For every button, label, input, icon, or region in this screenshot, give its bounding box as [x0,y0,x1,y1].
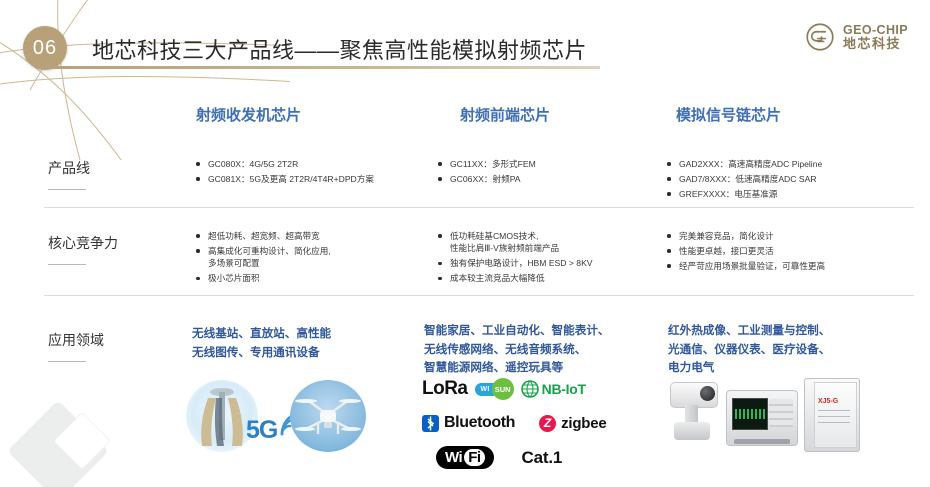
list-item: 完美兼容竞品，简化设计 [667,230,825,242]
decorative-curves [0,0,290,160]
row-label-applications: 应用领域 [48,330,104,362]
row-label-product-line: 产品线 [48,158,90,190]
cell-competence-frontend: 低功耗硅基CMOS技术, 性能比肩Ⅲ-V族射频前端产品 独有保护电路设计，HBM… [438,230,593,287]
list-item: 超低功耗、超宽频、超高带宽 [196,230,331,242]
wifi-logo: WiFi [436,446,494,469]
cell-productline-transceiver: GC080X：4G/5G 2T2R GC081X：5G及更高 2T2R/4T4R… [196,158,374,188]
list-item: 性能更卓越，接口更灵活 [667,245,825,257]
list-item: GREFXXXX：电压基准源 [667,188,822,200]
wifi-logo-text-a: Wi [445,449,462,466]
page-title: 地芯科技三大产品线——聚焦高性能模拟射频芯片 [92,33,587,65]
nbiot-logo-text: NB-IoT [542,381,586,397]
list-item: 成本较主流竞品大幅降低 [438,272,593,284]
application-text-frontend: 智能家居、工业自动化、智能表计、 无线传感网络、无线音频系统、 智慧能源网络、遥… [424,322,610,378]
list-item: GAD7/8XXX：低速高精度ADC SAR [667,173,822,185]
zigbee-logo-text: zigbee [561,415,606,432]
row-separator-2 [44,295,914,296]
protocol-logos: LoRa WI SUN NB-IoT [422,376,612,484]
bluetooth-logo: Bluetooth [422,414,515,432]
row-label-text: 应用领域 [48,332,104,348]
slide-canvas: 06 地芯科技三大产品线——聚焦高性能模拟射频芯片 GEO-CHIP 地芯科技 … [0,0,930,487]
list-item: GAD2XXX：高速高精度ADC Pipeline [667,158,822,170]
list-item: 高集成化可重构设计、简化应用, 多场景可配置 [196,245,331,270]
list-item: 极小芯片面积 [196,272,331,284]
row-label-text: 产品线 [48,160,90,176]
row-label-underline [48,361,86,362]
instrument-model-label: XJ5-G [818,398,838,405]
wisun-logo: WI SUN [475,378,514,400]
row-label-underline [48,189,86,190]
application-text-signalchain: 红外热成像、工业测量与控制、 光通信、仪器仪表、医疗设备、 电力电气 [668,322,830,378]
bluetooth-logo-text: Bluetooth [444,414,515,432]
application-text-transceiver: 无线基站、直放站、高性能 无线图传、专用通讯设备 [192,325,331,362]
imagery-row: 5G [0,372,930,484]
wisun-logo-text-a: WI [475,383,494,396]
zigbee-icon: Z [539,415,556,432]
zigbee-logo: Z zigbee [539,415,606,432]
list-item: 独有保护电路设计，HBM ESD > 8KV [438,257,593,269]
cell-competence-transceiver: 超低功耗、超宽频、超高带宽 高集成化可重构设计、简化应用, 多场景可配置 极小芯… [196,230,331,287]
list-item: GC080X：4G/5G 2T2R [196,158,374,170]
globe-icon [521,380,539,398]
5g-text: 5G [246,416,277,444]
cat1-logo: Cat.1 [522,448,563,468]
lora-logo: LoRa [422,378,468,400]
column-header-transceiver: 射频收发机芯片 [196,104,301,125]
wifi-logo-text-b: Fi [464,449,484,466]
logo-english-text: GEO-CHIP [843,23,908,37]
electrical-instrument-photo: XJ5-G [804,378,860,452]
cell-productline-frontend: GC11XX：多形式FEM GC06XX：射频PA [438,158,536,188]
list-item: 经严苛应用场景批量验证，可靠性更高 [667,260,825,272]
nbiot-logo: NB-IoT [521,380,586,398]
list-item: 低功耗硅基CMOS技术, 性能比肩Ⅲ-V族射频前端产品 [438,230,593,255]
title-underline [40,66,600,69]
row-label-underline [48,264,86,265]
geo-chip-circle-g-icon [805,22,835,52]
drone-photo [290,380,366,452]
bluetooth-icon [422,415,439,432]
column-header-signalchain: 模拟信号链芯片 [676,104,781,125]
cell-productline-signalchain: GAD2XXX：高速高精度ADC Pipeline GAD7/8XXX：低速高精… [667,158,822,203]
oscilloscope-photo [726,390,798,446]
column-header-frontend: 射频前端芯片 [460,104,550,125]
list-item: GC11XX：多形式FEM [438,158,536,170]
cell-competence-signalchain: 完美兼容竞品，简化设计 性能更卓越，接口更灵活 经严苛应用场景批量验证，可靠性更… [667,230,825,275]
thermal-imaging-camera-photo [664,378,722,448]
slide-number-badge: 06 [23,26,67,70]
list-item: GC06XX：射频PA [438,173,536,185]
row-separator-1 [44,207,914,208]
column-header-row: 射频收发机芯片 射频前端芯片 模拟信号链芯片 [0,104,930,130]
row-label-text: 核心竞争力 [48,235,118,251]
list-item: GC081X：5G及更高 2T2R/4T4R+DPD方案 [196,173,374,185]
wisun-logo-text-b: SUN [492,378,514,400]
row-label-core-competence: 核心竞争力 [48,233,118,265]
brand-logo: GEO-CHIP 地芯科技 [805,22,908,52]
logo-chinese-text: 地芯科技 [843,37,908,52]
